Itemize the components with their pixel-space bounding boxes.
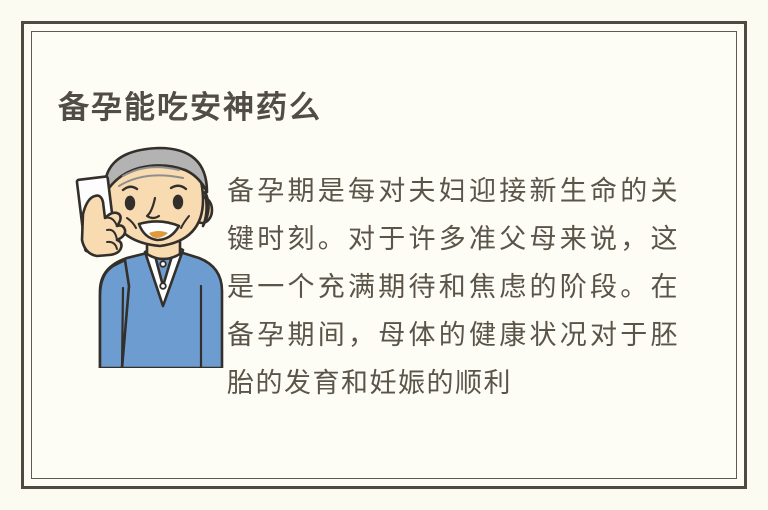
left-eye xyxy=(125,196,135,211)
sweater-left-sleeve xyxy=(100,260,129,368)
page-title: 备孕能吃安神药么 xyxy=(58,89,322,127)
elderly-man-on-phone-illustration xyxy=(67,136,227,368)
article-body-text: 备孕期是每对夫妇迎接新生命的关键时刻。对于许多准父母来说，这是一个充满期待和焦虑… xyxy=(227,168,679,408)
shirt-button xyxy=(160,261,166,267)
sweater-left-fold xyxy=(122,288,123,368)
card-content: 备孕能吃安神药么 xyxy=(31,31,737,479)
right-eye xyxy=(173,195,183,210)
article-card-page: 备孕能吃安神药么 xyxy=(0,0,768,510)
shirt-button xyxy=(160,283,166,289)
